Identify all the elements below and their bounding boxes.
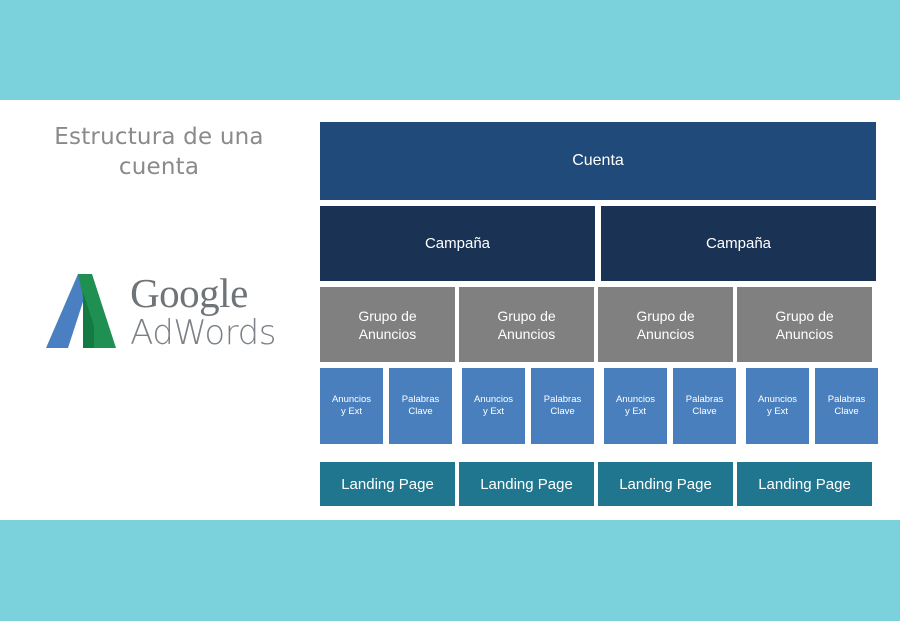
node-asset-ads-1-label: Anuncios y Ext bbox=[332, 394, 371, 418]
node-campaign-1-label: Campaña bbox=[425, 235, 490, 252]
google-adwords-logo: Google AdWords bbox=[0, 270, 318, 352]
left-panel: Estructura de una cuenta Google AdWords bbox=[0, 100, 318, 520]
node-ad-group-2-line-2: Anuncios bbox=[498, 326, 556, 342]
logo-word-google: Google bbox=[130, 273, 276, 314]
node-campaign-2-label: Campaña bbox=[706, 235, 771, 252]
node-asset-keywords-4-label: Palabras Clave bbox=[828, 394, 866, 418]
node-asset-ads-4[interactable]: Anuncios y Ext bbox=[746, 368, 809, 444]
node-asset-keywords-2-line-1: Palabras bbox=[544, 394, 582, 405]
node-account-label: Cuenta bbox=[572, 152, 624, 170]
diagram-row-landing-page: Landing Page Landing Page Landing Page L… bbox=[320, 462, 878, 506]
node-ad-group-4-label: Grupo de Anuncios bbox=[775, 307, 833, 343]
node-asset-keywords-3-label: Palabras Clave bbox=[686, 394, 724, 418]
diagram-row-account: Cuenta bbox=[320, 122, 878, 200]
node-account[interactable]: Cuenta bbox=[320, 122, 876, 200]
node-asset-ads-2-line-2: y Ext bbox=[483, 406, 504, 417]
node-asset-ads-2[interactable]: Anuncios y Ext bbox=[462, 368, 525, 444]
node-ad-group-1[interactable]: Grupo de Anuncios bbox=[320, 287, 455, 362]
node-campaign-2[interactable]: Campaña bbox=[601, 206, 876, 281]
node-asset-keywords-2-line-2: Clave bbox=[550, 406, 574, 417]
node-ad-group-3[interactable]: Grupo de Anuncios bbox=[598, 287, 733, 362]
node-asset-keywords-3-line-1: Palabras bbox=[686, 394, 724, 405]
node-ad-group-2[interactable]: Grupo de Anuncios bbox=[459, 287, 594, 362]
diagram-row-assets: Anuncios y Ext Palabras Clave Anuncios y… bbox=[320, 368, 878, 444]
node-landing-page-4[interactable]: Landing Page bbox=[737, 462, 872, 506]
page-title: Estructura de una cuenta bbox=[0, 122, 318, 182]
node-asset-ads-3[interactable]: Anuncios y Ext bbox=[604, 368, 667, 444]
node-asset-keywords-3-line-2: Clave bbox=[692, 406, 716, 417]
node-asset-ads-3-label: Anuncios y Ext bbox=[616, 394, 655, 418]
node-ad-group-2-label: Grupo de Anuncios bbox=[497, 307, 555, 343]
node-asset-keywords-4-line-1: Palabras bbox=[828, 394, 866, 405]
node-asset-keywords-1[interactable]: Palabras Clave bbox=[389, 368, 452, 444]
node-ad-group-1-label: Grupo de Anuncios bbox=[358, 307, 416, 343]
node-ad-group-3-line-2: Anuncios bbox=[637, 326, 695, 342]
bottom-decorative-band bbox=[0, 520, 900, 621]
node-asset-ads-4-line-2: y Ext bbox=[767, 406, 788, 417]
node-asset-ads-1[interactable]: Anuncios y Ext bbox=[320, 368, 383, 444]
logo-wordmark: Google AdWords bbox=[130, 273, 276, 350]
node-landing-page-3[interactable]: Landing Page bbox=[598, 462, 733, 506]
account-structure-diagram: Cuenta Campaña Campaña Grupo de Anuncios… bbox=[320, 122, 878, 506]
node-asset-keywords-1-line-1: Palabras bbox=[402, 394, 440, 405]
node-ad-group-1-line-2: Anuncios bbox=[359, 326, 417, 342]
node-ad-group-4-line-2: Anuncios bbox=[776, 326, 834, 342]
node-asset-ads-1-line-1: Anuncios bbox=[332, 394, 371, 405]
node-ad-group-3-label: Grupo de Anuncios bbox=[636, 307, 694, 343]
top-decorative-band bbox=[0, 0, 900, 100]
node-asset-keywords-1-label: Palabras Clave bbox=[402, 394, 440, 418]
node-landing-page-1[interactable]: Landing Page bbox=[320, 462, 455, 506]
node-asset-keywords-1-line-2: Clave bbox=[408, 406, 432, 417]
node-asset-keywords-2-label: Palabras Clave bbox=[544, 394, 582, 418]
node-asset-ads-4-line-1: Anuncios bbox=[758, 394, 797, 405]
node-asset-ads-4-label: Anuncios y Ext bbox=[758, 394, 797, 418]
node-campaign-1[interactable]: Campaña bbox=[320, 206, 595, 281]
logo-word-adwords: AdWords bbox=[130, 316, 276, 350]
node-ad-group-1-line-1: Grupo de bbox=[358, 308, 416, 324]
node-asset-ads-3-line-2: y Ext bbox=[625, 406, 646, 417]
page-title-line-2: cuenta bbox=[0, 152, 318, 182]
node-landing-page-3-label: Landing Page bbox=[619, 476, 712, 493]
node-ad-group-4[interactable]: Grupo de Anuncios bbox=[737, 287, 872, 362]
node-asset-ads-2-line-1: Anuncios bbox=[474, 394, 513, 405]
node-landing-page-1-label: Landing Page bbox=[341, 476, 434, 493]
node-asset-ads-3-line-1: Anuncios bbox=[616, 394, 655, 405]
node-asset-ads-2-label: Anuncios y Ext bbox=[474, 394, 513, 418]
node-asset-keywords-2[interactable]: Palabras Clave bbox=[531, 368, 594, 444]
node-ad-group-2-line-1: Grupo de bbox=[497, 308, 555, 324]
diagram-row-campaign: Campaña Campaña bbox=[320, 206, 878, 281]
node-ad-group-4-line-1: Grupo de bbox=[775, 308, 833, 324]
adwords-triangle-mark bbox=[42, 270, 120, 352]
node-landing-page-2[interactable]: Landing Page bbox=[459, 462, 594, 506]
node-landing-page-2-label: Landing Page bbox=[480, 476, 573, 493]
node-asset-keywords-3[interactable]: Palabras Clave bbox=[673, 368, 736, 444]
node-landing-page-4-label: Landing Page bbox=[758, 476, 851, 493]
diagram-row-ad-group: Grupo de Anuncios Grupo de Anuncios Grup… bbox=[320, 287, 878, 362]
node-asset-ads-1-line-2: y Ext bbox=[341, 406, 362, 417]
node-asset-keywords-4[interactable]: Palabras Clave bbox=[815, 368, 878, 444]
page-title-line-1: Estructura de una bbox=[0, 122, 318, 152]
node-ad-group-3-line-1: Grupo de bbox=[636, 308, 694, 324]
node-asset-keywords-4-line-2: Clave bbox=[834, 406, 858, 417]
